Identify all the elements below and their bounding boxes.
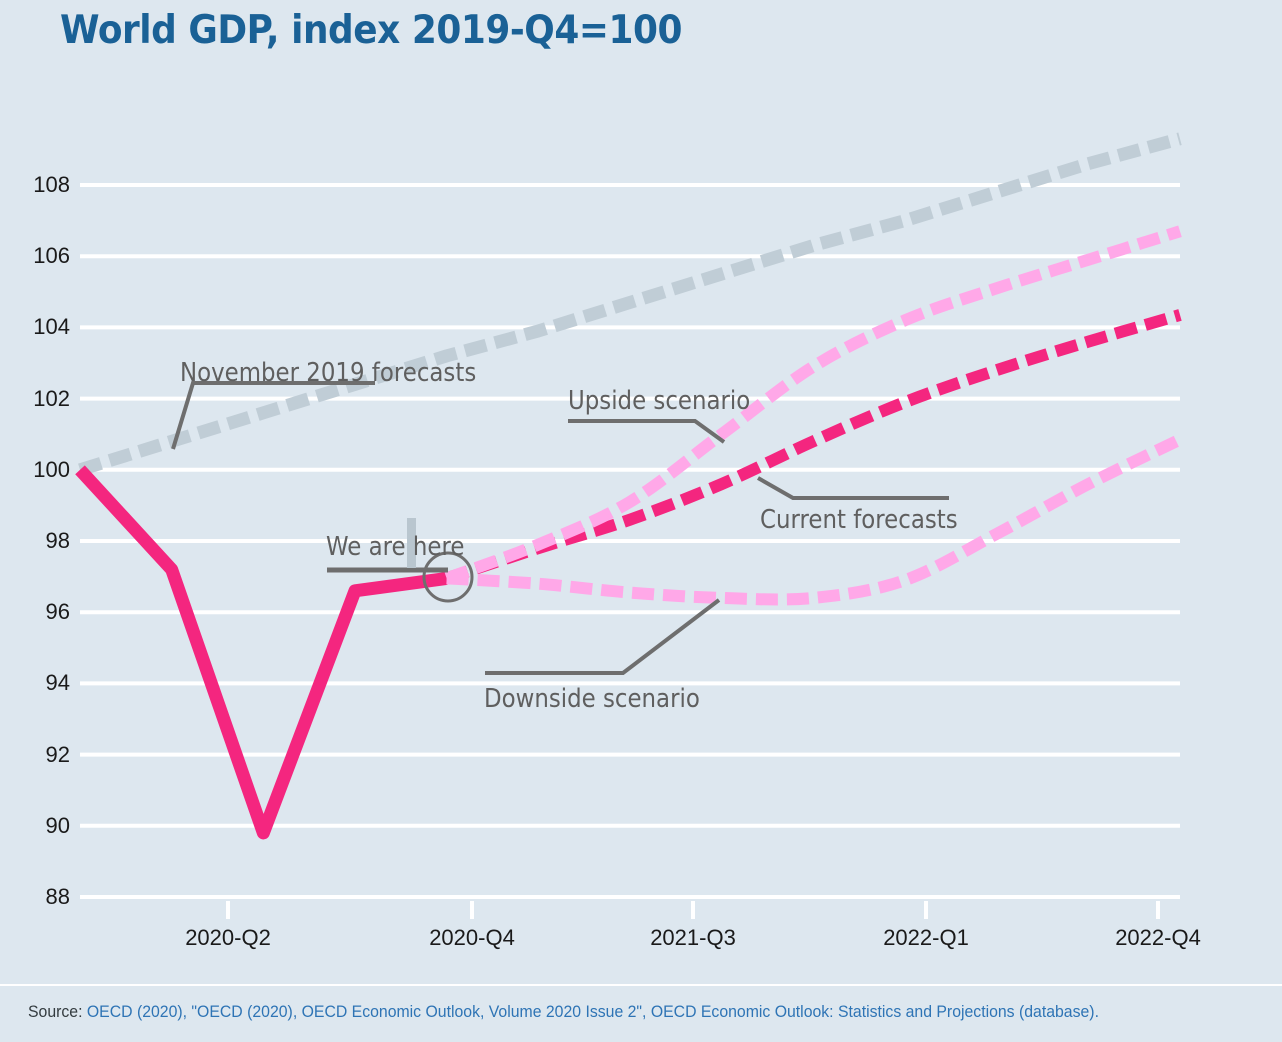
annotation-we-are-here: We are here	[326, 532, 464, 562]
x-axis-label-2020-Q2: 2020-Q2	[148, 925, 308, 951]
x-axis-label-2022-Q1: 2022-Q1	[846, 925, 1006, 951]
y-axis-label-96: 96	[0, 599, 70, 625]
y-axis-label-92: 92	[0, 742, 70, 768]
y-axis-label-88: 88	[0, 884, 70, 910]
y-axis-label-108: 108	[0, 172, 70, 198]
series-line-current-forecasts	[447, 315, 1180, 578]
leader-upside-scenario	[568, 421, 724, 442]
y-axis-label-90: 90	[0, 813, 70, 839]
y-axis-label-104: 104	[0, 314, 70, 340]
x-axis-label-2021-Q3: 2021-Q3	[613, 925, 773, 951]
y-axis-label-102: 102	[0, 386, 70, 412]
line-chart-plot	[0, 0, 1282, 1042]
source-note: Source: OECD (2020), "OECD (2020), OECD …	[28, 1002, 1099, 1022]
source-prefix: Source:	[28, 1002, 87, 1021]
x-axis-label-2020-Q4: 2020-Q4	[392, 925, 552, 951]
annotation-november-2019-forecasts: November 2019 forecasts	[180, 358, 476, 388]
y-axis-label-106: 106	[0, 243, 70, 269]
y-axis-label-98: 98	[0, 528, 70, 554]
x-axis-ticks-group	[228, 901, 1158, 919]
annotation-downside-scenario: Downside scenario	[484, 684, 700, 714]
y-axis-label-94: 94	[0, 670, 70, 696]
source-bar: Source: OECD (2020), "OECD (2020), OECD …	[0, 984, 1282, 1042]
chart-canvas: World GDP, index 2019-Q4=100 88909294969…	[0, 0, 1282, 1042]
source-link[interactable]: OECD (2020), "OECD (2020), OECD Economic…	[87, 1002, 1099, 1021]
leader-current-forecasts	[758, 478, 949, 498]
series-group	[80, 139, 1180, 833]
annotation-upside-scenario: Upside scenario	[568, 386, 750, 416]
series-line-actual-history	[80, 470, 447, 833]
x-axis-label-2022-Q4: 2022-Q4	[1078, 925, 1238, 951]
annotation-current-forecasts: Current forecasts	[760, 505, 958, 535]
y-axis-label-100: 100	[0, 457, 70, 483]
